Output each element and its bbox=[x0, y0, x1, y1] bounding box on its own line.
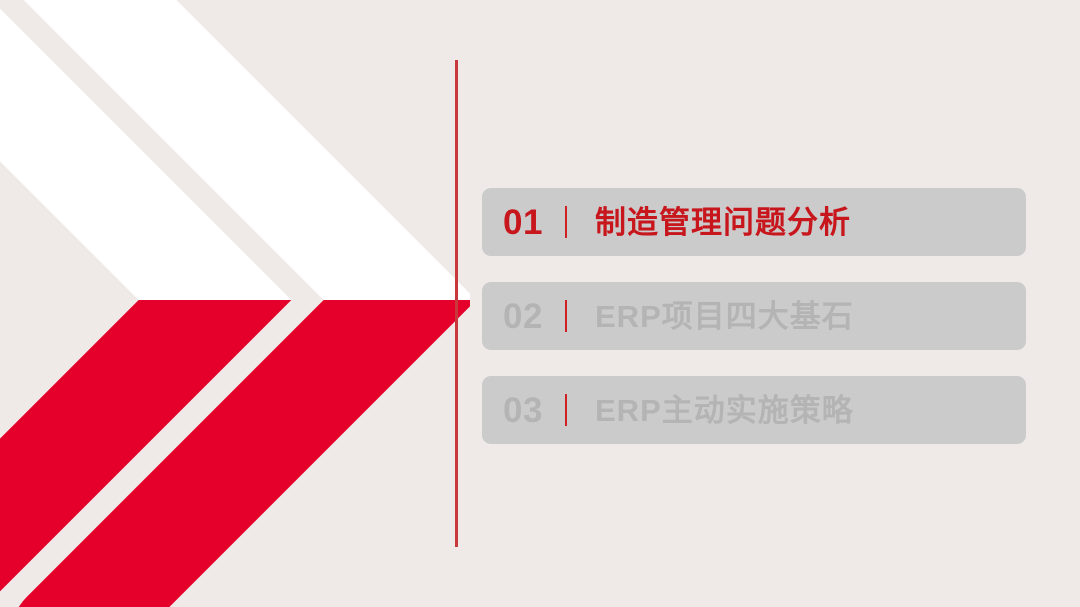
agenda-item-02[interactable]: 02 ERP项目四大基石 bbox=[482, 282, 1026, 350]
slide-canvas: 01 制造管理问题分析 02 ERP项目四大基石 03 ERP主动实施策略 bbox=[0, 0, 1080, 607]
agenda-item-label: 制造管理问题分析 bbox=[595, 207, 851, 238]
agenda-item-01[interactable]: 01 制造管理问题分析 bbox=[482, 188, 1026, 256]
double-chevron-graphic bbox=[0, 0, 470, 607]
chevron-stroke-outer bbox=[65, 0, 400, 607]
chevron-stroke-inner bbox=[0, 0, 215, 607]
agenda-item-03[interactable]: 03 ERP主动实施策略 bbox=[482, 376, 1026, 444]
agenda-item-divider-icon bbox=[565, 206, 567, 238]
agenda-item-number: 03 bbox=[503, 393, 565, 428]
agenda-item-label: ERP项目四大基石 bbox=[595, 301, 854, 332]
agenda-item-label: ERP主动实施策略 bbox=[595, 395, 854, 426]
agenda-item-divider-icon bbox=[565, 394, 567, 426]
agenda-item-number: 01 bbox=[503, 205, 565, 240]
agenda-list: 01 制造管理问题分析 02 ERP项目四大基石 03 ERP主动实施策略 bbox=[482, 188, 1026, 444]
vertical-red-rule bbox=[455, 60, 458, 547]
agenda-item-divider-icon bbox=[565, 300, 567, 332]
agenda-item-number: 02 bbox=[503, 299, 565, 334]
